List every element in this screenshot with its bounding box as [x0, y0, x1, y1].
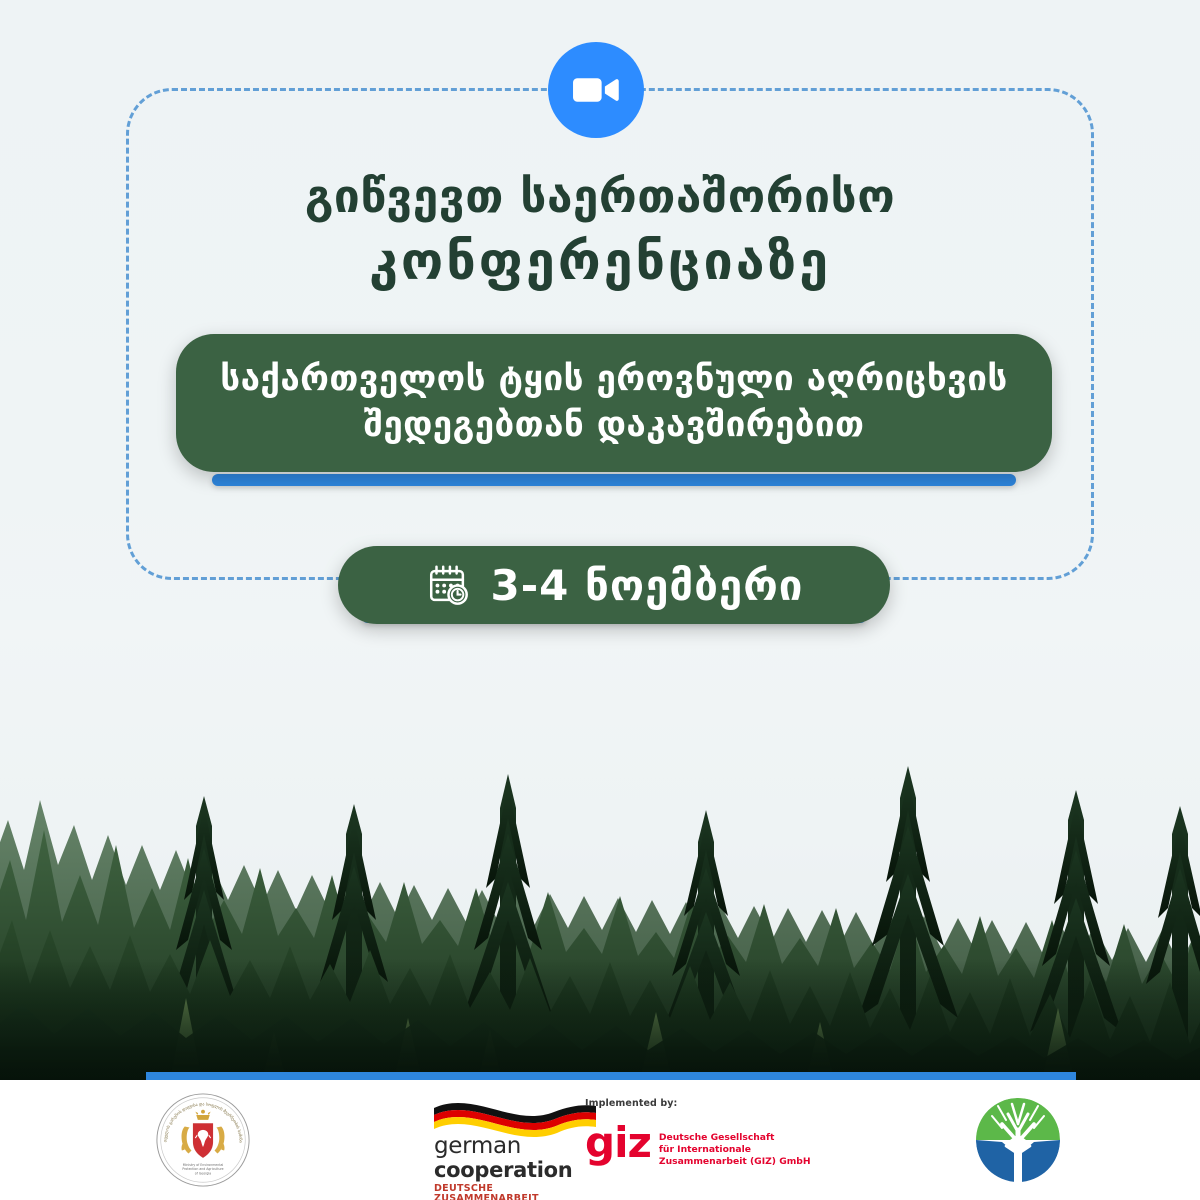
giz-logo: Implemented by: giz Deutsche Gesellschaf…	[585, 1094, 785, 1186]
video-camera-icon	[548, 42, 644, 138]
subtitle-line-1: საქართველოს ტყის ეროვნული აღრიცხვის	[210, 356, 1018, 402]
headline-line-2: კონფერენციაზე	[0, 230, 1200, 296]
german-cooperation-line-3: DEUTSCHE ZUSAMMENARBEIT	[434, 1184, 600, 1200]
subtitle-line-2: შედეგებთან დაკავშირებით	[210, 402, 1018, 448]
svg-text:of Georgia: of Georgia	[195, 1171, 211, 1175]
footer-logos: საქართველოს გარემოს დაცვისა და სოფლის მე…	[0, 1080, 1200, 1200]
calendar-clock-icon	[425, 562, 471, 608]
date-banner: 3-4 ნოემბერი	[338, 546, 890, 624]
german-cooperation-line-2: cooperation	[434, 1159, 600, 1182]
giz-desc-line-2: für Internationale	[659, 1144, 811, 1156]
german-cooperation-line-1: german	[434, 1134, 600, 1159]
giz-description: Deutsche Gesellschaft für Internationale…	[659, 1124, 811, 1168]
german-cooperation-text: german cooperation DEUTSCHE ZUSAMMENARBE…	[434, 1134, 600, 1200]
page-title: გიწვევთ საერთაშორისო კონფერენციაზე	[0, 168, 1200, 295]
forest-photo	[0, 620, 1200, 1080]
giz-desc-line-3: Zusammenarbeit (GIZ) GmbH	[659, 1156, 811, 1168]
conifer-treeline	[0, 620, 1200, 1080]
headline-line-1: გიწვევთ საერთაშორისო	[0, 168, 1200, 226]
subtitle-accent-bar	[212, 474, 1016, 486]
subtitle-banner: საქართველოს ტყის ეროვნული აღრიცხვის შედე…	[176, 334, 1052, 472]
implemented-by-label: Implemented by:	[585, 1098, 677, 1109]
date-text: 3-4 ნოემბერი	[491, 561, 804, 610]
ministry-emblem-icon: საქართველოს გარემოს დაცვისა და სოფლის მე…	[155, 1092, 251, 1188]
national-forestry-agency-logo	[968, 1090, 1068, 1190]
giz-wordmark: giz	[585, 1124, 651, 1163]
tree-circle-icon	[968, 1090, 1068, 1190]
date-box: 3-4 ნოემბერი	[338, 546, 890, 624]
ministry-emblem-logo: საქართველოს გარემოს დაცვისა და სოფლის მე…	[155, 1092, 251, 1188]
subtitle-box: საქართველოს ტყის ეროვნული აღრიცხვის შედე…	[176, 334, 1052, 472]
giz-desc-line-1: Deutsche Gesellschaft	[659, 1132, 811, 1144]
german-cooperation-logo: german cooperation DEUTSCHE ZUSAMMENARBE…	[430, 1094, 600, 1186]
poster-root: გიწვევთ საერთაშორისო კონფერენციაზე საქარ…	[0, 0, 1200, 1200]
